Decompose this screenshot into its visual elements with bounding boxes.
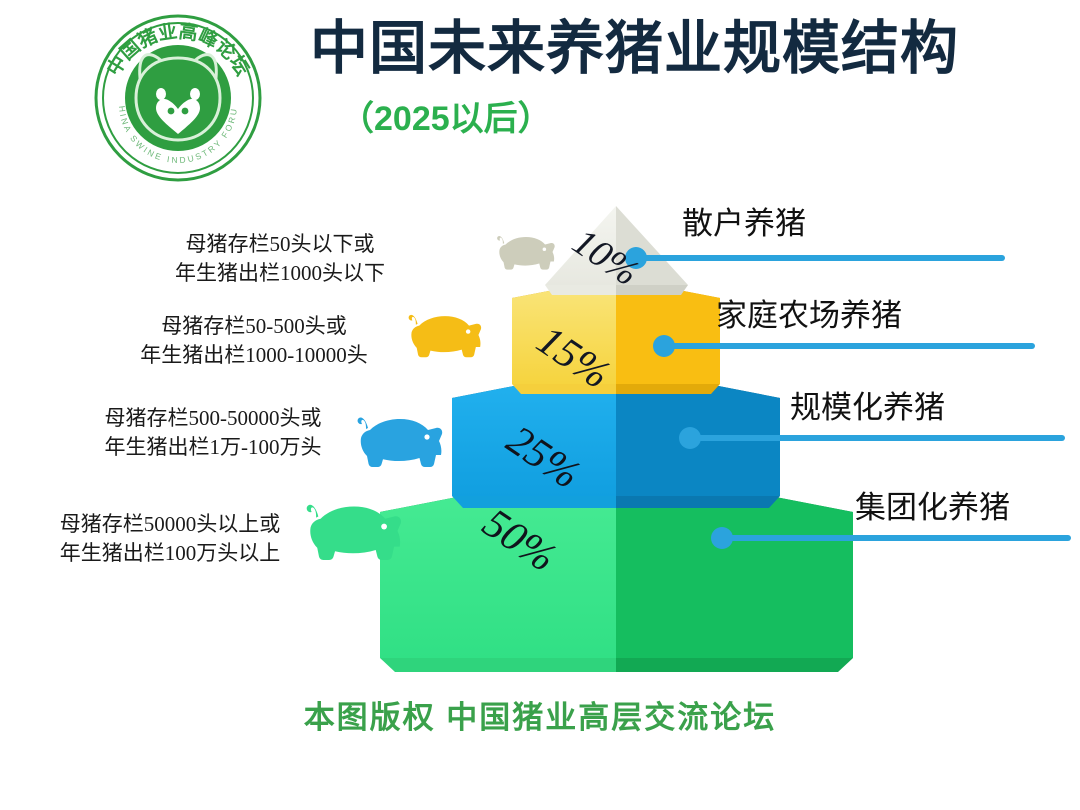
pig-icon-tier-0 xyxy=(497,236,555,270)
tier-1-criteria-line2: 年生猪出栏1000-10000头 xyxy=(104,341,404,370)
pig-icon-tier-2 xyxy=(358,417,443,467)
tier-3-bevel-left xyxy=(380,658,616,672)
infographic-page: 中国猪业高峰论坛 CHINA SWINE INDUSTRY FORUM 中国未来… xyxy=(0,0,1080,810)
tier-1-criteria-line1: 母猪存栏50-500头或 xyxy=(104,312,404,341)
tier-2-bevel-right xyxy=(616,496,780,508)
tier-0-criteria-line1: 母猪存栏50头以下或 xyxy=(140,230,420,259)
leader-line-tier-0 xyxy=(625,247,1002,269)
category-label-1: 家庭农场养猪 xyxy=(716,300,902,331)
tier-3-criteria: 母猪存栏50000头以上或 年生猪出栏100万头以上 xyxy=(10,510,330,567)
tier-0-criteria: 母猪存栏50头以下或 年生猪出栏1000头以下 xyxy=(140,230,420,287)
tier-1-criteria: 母猪存栏50-500头或 年生猪出栏1000-10000头 xyxy=(104,312,404,369)
tier-0-bevel-left xyxy=(545,285,616,295)
tier-1-bevel-right xyxy=(616,384,720,394)
category-label-2: 规模化养猪 xyxy=(790,392,945,423)
tier-2-criteria-line2: 年生猪出栏1万-100万头 xyxy=(58,433,368,462)
tier-3-criteria-line2: 年生猪出栏100万头以上 xyxy=(10,539,330,568)
pig-icon-tier-1 xyxy=(409,315,482,357)
category-label-3: 集团化养猪 xyxy=(855,492,1010,523)
tier-0-criteria-line2: 年生猪出栏1000头以下 xyxy=(140,259,420,288)
tier-2-criteria: 母猪存栏500-50000头或 年生猪出栏1万-100万头 xyxy=(58,404,368,461)
tier-2-bevel-left xyxy=(452,496,616,508)
tier-3-criteria-line1: 母猪存栏50000头以上或 xyxy=(10,510,330,539)
category-label-0: 散户养猪 xyxy=(682,208,806,239)
tier-2-criteria-line1: 母猪存栏500-50000头或 xyxy=(58,404,368,433)
copyright-footer: 本图版权 中国猪业高层交流论坛 xyxy=(0,692,1080,737)
tier-3-bevel-right xyxy=(616,658,853,672)
